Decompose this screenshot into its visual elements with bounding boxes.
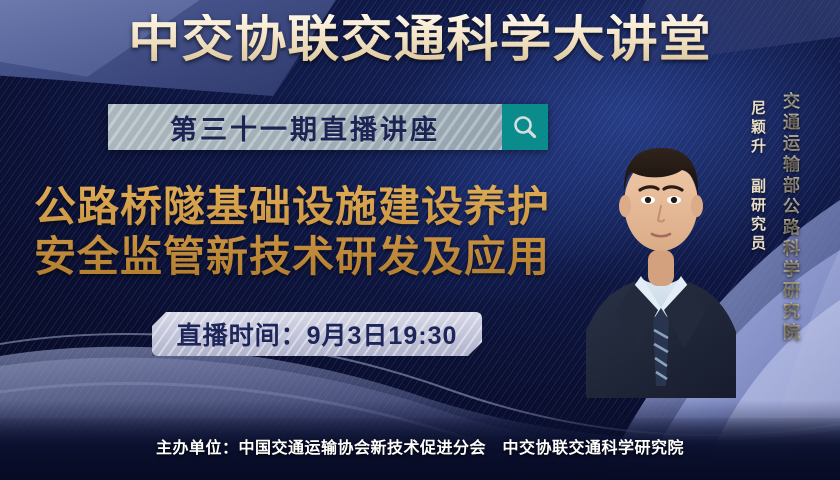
page-title: 中交协联交通科学大讲堂 (0, 14, 840, 64)
episode-label: 第三十一期直播讲座 (170, 108, 440, 147)
speaker-portrait (586, 86, 736, 398)
speaker-name-and-title: 尼颖升 副研究员 (747, 100, 768, 254)
broadcast-time-label: 直播时间：9月3日19:30 (177, 316, 458, 352)
search-icon-box[interactable] (502, 104, 548, 150)
episode-banner-body: 第三十一期直播讲座 (108, 104, 502, 150)
broadcast-time-box: 直播时间：9月3日19:30 (152, 312, 482, 356)
search-icon (511, 113, 539, 141)
lecture-topic-heading: 公路桥隧基础设施建设养护 安全监管新技术研发及应用 (34, 182, 550, 281)
episode-banner: 第三十一期直播讲座 (108, 104, 548, 150)
speaker-organization: 交通运输部公路科学研究院 (777, 92, 802, 344)
live-lecture-poster: 中交协联交通科学大讲堂 第三十一期直播讲座 公路桥隧基础设施建设养护 安全监管新… (0, 0, 840, 480)
organizer-credit: 主办单位：中国交通运输协会新技术促进分会 中交协联交通科学研究院 (0, 434, 840, 458)
